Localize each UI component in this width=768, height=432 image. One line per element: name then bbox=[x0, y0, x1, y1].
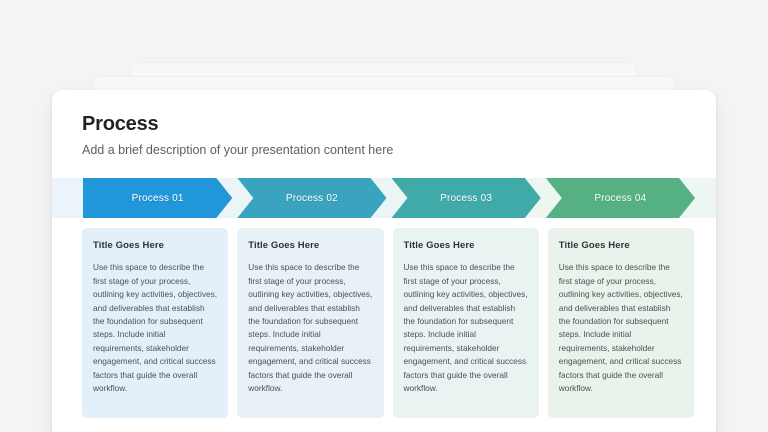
process-card-title: Title Goes Here bbox=[559, 240, 683, 251]
chevron-label-3: Process 03 bbox=[392, 178, 541, 218]
chevron-label-1: Process 01 bbox=[83, 178, 232, 218]
process-card-list: Title Goes HereUse this space to describ… bbox=[52, 218, 716, 418]
page-subtitle: Add a brief description of your presenta… bbox=[82, 142, 686, 158]
process-card-title: Title Goes Here bbox=[404, 240, 528, 251]
process-card[interactable]: Title Goes HereUse this space to describ… bbox=[393, 228, 539, 418]
process-card-body: Use this space to describe the first sta… bbox=[559, 261, 683, 395]
chevron-label-2: Process 02 bbox=[237, 178, 386, 218]
process-card-title: Title Goes Here bbox=[93, 240, 217, 251]
process-card[interactable]: Title Goes HereUse this space to describ… bbox=[82, 228, 228, 418]
slide-header: Process Add a brief description of your … bbox=[52, 90, 716, 158]
process-card-body: Use this space to describe the first sta… bbox=[404, 261, 528, 395]
process-card-title: Title Goes Here bbox=[248, 240, 372, 251]
process-card[interactable]: Title Goes HereUse this space to describ… bbox=[548, 228, 694, 418]
slide-stage: Process Add a brief description of your … bbox=[0, 0, 768, 432]
presentation-slide: Process Add a brief description of your … bbox=[52, 90, 716, 432]
chevron-label-4: Process 04 bbox=[546, 178, 695, 218]
process-card[interactable]: Title Goes HereUse this space to describ… bbox=[237, 228, 383, 418]
process-card-body: Use this space to describe the first sta… bbox=[93, 261, 217, 395]
process-chevron-ribbon: Process 01Process 02Process 03Process 04 bbox=[52, 178, 716, 218]
process-card-body: Use this space to describe the first sta… bbox=[248, 261, 372, 395]
page-title: Process bbox=[82, 112, 686, 136]
